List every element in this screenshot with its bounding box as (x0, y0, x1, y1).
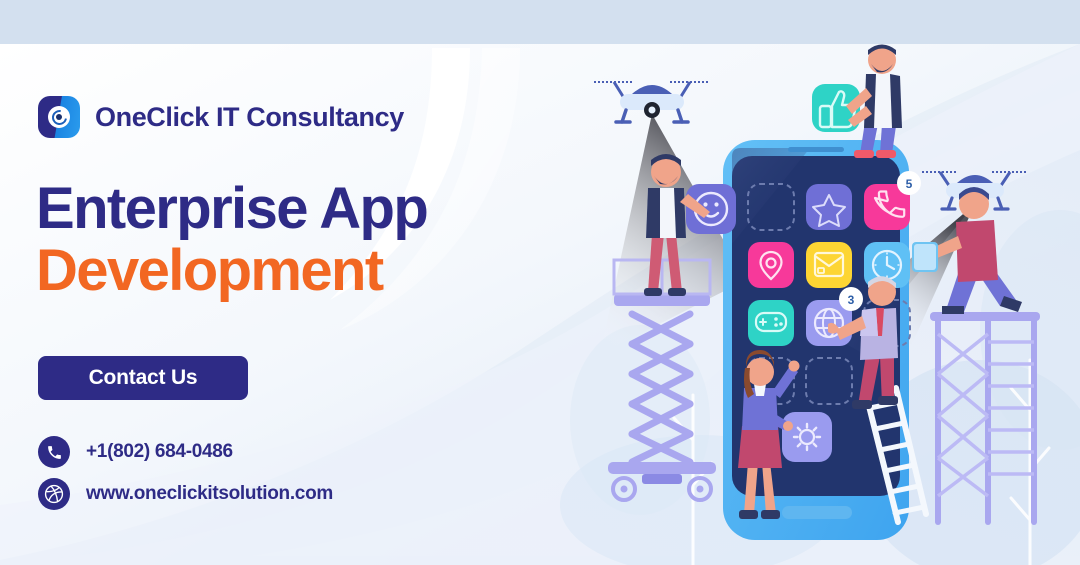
svg-text:5: 5 (906, 177, 913, 191)
marketing-banner: OneClick IT Consultancy Enterprise App D… (0, 0, 1080, 565)
oneclick-logo-icon (38, 96, 80, 138)
badge-phone-app: 5 (897, 171, 921, 195)
drone-left-icon (594, 82, 710, 122)
svg-text:3: 3 (848, 293, 855, 307)
dribbble-icon (38, 478, 70, 510)
website-url: www.oneclickitsolution.com (86, 483, 333, 505)
badge-browser-app: 3 (839, 287, 863, 311)
contact-website[interactable]: www.oneclickitsolution.com (38, 478, 333, 510)
brand-logo[interactable]: OneClick IT Consultancy (38, 96, 404, 138)
scissor-lift (632, 314, 690, 462)
page-title: Enterprise App Development (36, 178, 427, 302)
mail-app-icon[interactable] (806, 242, 852, 288)
headline-line-1: Enterprise App (36, 178, 427, 240)
scissor-lift-platform (608, 260, 716, 500)
headline-line-2: Development (36, 240, 427, 302)
games-app-icon[interactable] (748, 300, 794, 346)
contact-us-button[interactable]: Contact Us (38, 356, 248, 400)
enterprise-app-development-illustration: 5 (560, 44, 1080, 565)
scaffold-tower (930, 312, 1040, 522)
brand-name: OneClick IT Consultancy (95, 102, 404, 133)
top-accent-band (0, 0, 1080, 44)
location-app-icon[interactable] (748, 242, 794, 288)
contact-phone[interactable]: +1(802) 684-0486 (38, 436, 233, 468)
settings-app-icon[interactable] (782, 412, 832, 462)
star-app-icon[interactable] (806, 184, 852, 230)
phone-number: +1(802) 684-0486 (86, 441, 233, 463)
phone-icon (38, 436, 70, 468)
